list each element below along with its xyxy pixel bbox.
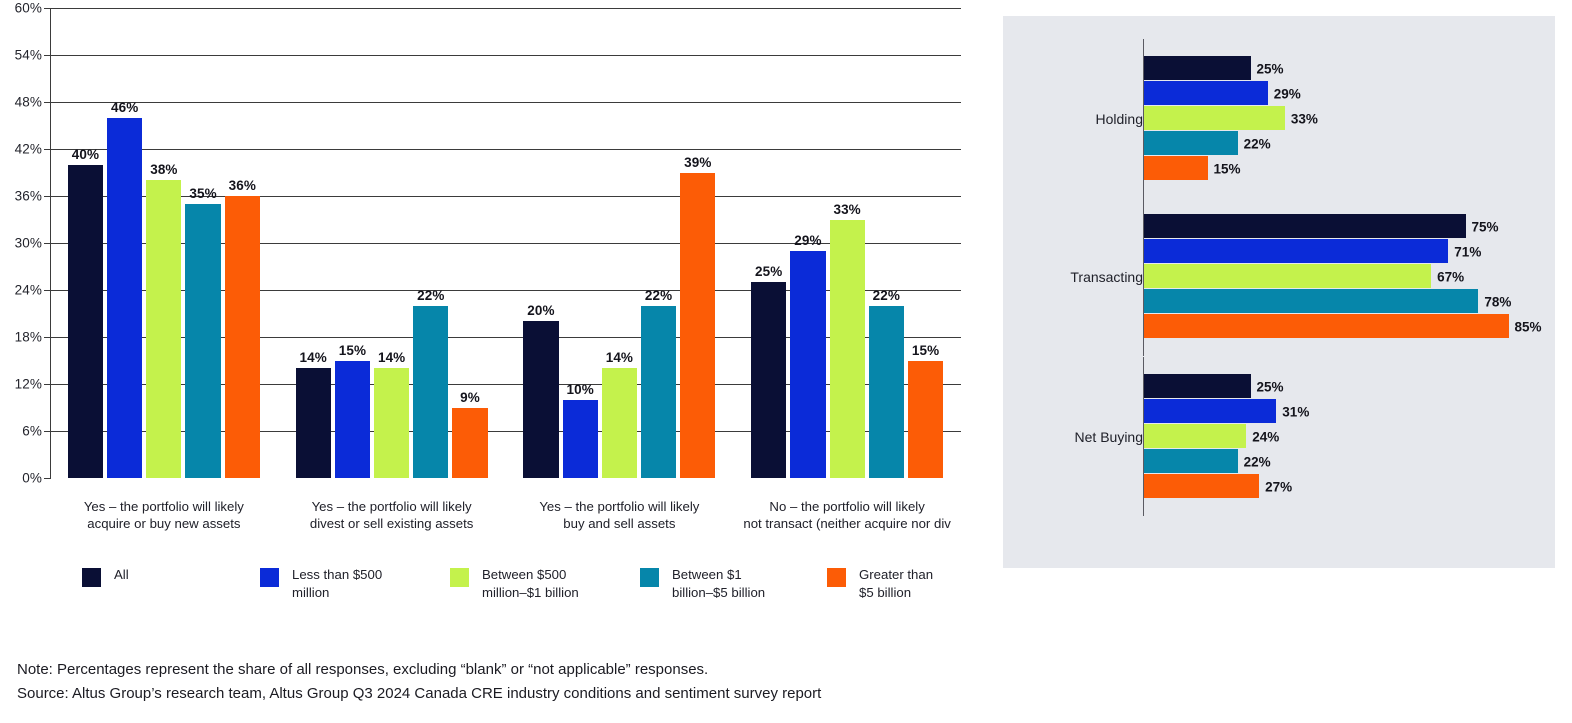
y-axis-tick-label: 12%: [15, 377, 42, 392]
bar-value-label: 38%: [150, 162, 177, 177]
horizontal-bar-group-label: Holding: [1096, 111, 1143, 127]
bar-value-label: 22%: [873, 288, 900, 303]
legend-swatch-less-than-500-million: [260, 568, 279, 587]
horizontal-bar-group: Holding25%29%33%22%15%: [1003, 56, 1555, 181]
horizontal-bar[interactable]: [1143, 81, 1268, 105]
bar-value-label: 14%: [378, 350, 405, 365]
bar-group: 14%15%14%22%9%: [278, 8, 506, 478]
bar[interactable]: [296, 368, 331, 478]
y-axis-tick-label: 60%: [15, 1, 42, 16]
horizontal-bar-value-label: 71%: [1454, 244, 1481, 259]
horizontal-bar-row[interactable]: 67%: [1143, 264, 1555, 289]
bar[interactable]: [602, 368, 637, 478]
y-axis-tick-mark: [44, 102, 50, 103]
footnotes: Note: Percentages represent the share of…: [17, 658, 997, 706]
bar-value-label: 14%: [606, 350, 633, 365]
horizontal-bar-group: Net Buying25%31%24%22%27%: [1003, 374, 1555, 499]
category-label-line: No – the portfolio will likely: [735, 498, 959, 515]
horizontal-bar-value-label: 15%: [1214, 161, 1241, 176]
y-axis-tick-label: 6%: [22, 424, 42, 439]
bar-value-label: 35%: [189, 186, 216, 201]
bar-column[interactable]: 9%: [452, 8, 487, 478]
horizontal-bar-row[interactable]: 22%: [1143, 131, 1555, 156]
bar[interactable]: [185, 204, 220, 478]
horizontal-bar-value-label: 31%: [1282, 404, 1309, 419]
bar-value-label: 14%: [300, 350, 327, 365]
horizontal-bar-row[interactable]: 31%: [1143, 399, 1555, 424]
y-axis-tick-mark: [44, 337, 50, 338]
horizontal-bar-group: Transacting75%71%67%78%85%: [1003, 214, 1555, 339]
y-axis-tick-label: 54%: [15, 48, 42, 63]
legend-item[interactable]: All: [82, 566, 129, 587]
horizontal-bar[interactable]: [1143, 474, 1259, 498]
bar-value-label: 29%: [794, 233, 821, 248]
bar-column[interactable]: 35%: [185, 8, 220, 478]
horizontal-bars: 25%31%24%22%27%: [1143, 374, 1555, 499]
bar-groups: 40%46%38%35%36%14%15%14%22%9%20%10%14%22…: [50, 8, 961, 478]
legend-item-label: Between $500 million–$1 billion: [482, 566, 579, 602]
horizontal-bar-row[interactable]: 85%: [1143, 314, 1555, 339]
x-axis-category-label: No – the portfolio will likelynot transa…: [733, 498, 961, 532]
bar[interactable]: [68, 165, 103, 478]
bar-column[interactable]: 40%: [68, 8, 103, 478]
horizontal-bar[interactable]: [1143, 289, 1478, 313]
bar-group-bars: 25%29%33%22%15%: [751, 8, 943, 478]
bar[interactable]: [869, 306, 904, 478]
bar-value-label: 39%: [684, 155, 711, 170]
x-axis-category-label: Yes – the portfolio will likelybuy and s…: [506, 498, 734, 532]
legend-item-label: Less than $500 million: [292, 566, 382, 602]
bar[interactable]: [335, 361, 370, 479]
footnote-note: Note: Percentages represent the share of…: [17, 658, 997, 682]
legend-swatch-between-1-billion-5-billion: [640, 568, 659, 587]
category-label-line: Yes – the portfolio will likely: [280, 498, 504, 515]
horizontal-bar-row[interactable]: 75%: [1143, 214, 1555, 239]
horizontal-bar-value-label: 78%: [1484, 294, 1511, 309]
y-axis-tick-mark: [44, 196, 50, 197]
horizontal-bar-value-label: 25%: [1257, 61, 1284, 76]
bar-column[interactable]: 10%: [563, 8, 598, 478]
bar-value-label: 25%: [755, 264, 782, 279]
y-axis-tick-label: 48%: [15, 95, 42, 110]
category-label-line: divest or sell existing assets: [280, 515, 504, 532]
horizontal-bar-row[interactable]: 25%: [1143, 56, 1555, 81]
y-axis-tick-label: 24%: [15, 283, 42, 298]
y-axis-tick-label: 36%: [15, 189, 42, 204]
x-axis-category-label: Yes – the portfolio will likelydivest or…: [278, 498, 506, 532]
bar-value-label: 22%: [645, 288, 672, 303]
category-label-line: not transact (neither acquire nor div: [735, 515, 959, 532]
grouped-column-chart: 0%6%12%18%24%30%36%42%48%54%60% 40%46%38…: [0, 0, 1000, 620]
bar-column[interactable]: 14%: [602, 8, 637, 478]
horizontal-axis-line: [1143, 197, 1144, 356]
bar[interactable]: [146, 180, 181, 478]
horizontal-bar-row[interactable]: 24%: [1143, 424, 1555, 449]
y-axis-tick-mark: [44, 243, 50, 244]
horizontal-bar-value-label: 22%: [1244, 136, 1271, 151]
horizontal-bars: 25%29%33%22%15%: [1143, 56, 1555, 181]
bar-column[interactable]: 22%: [869, 8, 904, 478]
horizontal-bar-value-label: 27%: [1265, 479, 1292, 494]
horizontal-bar-row[interactable]: 33%: [1143, 106, 1555, 131]
horizontal-bar-groups: Holding25%29%33%22%15%Transacting75%71%6…: [1003, 16, 1555, 568]
bar-column[interactable]: 39%: [680, 8, 715, 478]
horizontal-bar-value-label: 24%: [1252, 429, 1279, 444]
bar[interactable]: [641, 306, 676, 478]
y-axis-tick-mark: [44, 431, 50, 432]
y-axis-tick-mark: [44, 290, 50, 291]
bar[interactable]: [790, 251, 825, 478]
bar[interactable]: [413, 306, 448, 478]
y-axis-tick-mark: [44, 478, 50, 479]
x-axis-category-labels: Yes – the portfolio will likelyacquire o…: [50, 498, 961, 532]
bar[interactable]: [830, 220, 865, 479]
bar[interactable]: [908, 361, 943, 479]
bar[interactable]: [563, 400, 598, 478]
legend-item[interactable]: Between $1 billion–$5 billion: [640, 566, 765, 602]
bar-group-bars: 14%15%14%22%9%: [296, 8, 488, 478]
horizontal-bar-value-label: 85%: [1515, 319, 1542, 334]
category-label-line: Yes – the portfolio will likely: [508, 498, 732, 515]
bar-value-label: 15%: [339, 343, 366, 358]
bar-value-label: 46%: [111, 100, 138, 115]
horizontal-bar-value-label: 75%: [1472, 219, 1499, 234]
y-axis-tick-label: 30%: [15, 236, 42, 251]
bar[interactable]: [523, 321, 558, 478]
bar-group: 40%46%38%35%36%: [50, 8, 278, 478]
category-label-line: acquire or buy new assets: [52, 515, 276, 532]
category-label-line: Yes – the portfolio will likely: [52, 498, 276, 515]
horizontal-bar[interactable]: [1143, 156, 1208, 180]
bar-column[interactable]: 15%: [908, 8, 943, 478]
horizontal-bar[interactable]: [1143, 56, 1251, 80]
bar-group: 20%10%14%22%39%: [506, 8, 734, 478]
bar[interactable]: [374, 368, 409, 478]
y-axis-tick-labels: 0%6%12%18%24%30%36%42%48%54%60%: [0, 0, 46, 486]
y-axis-tick-label: 0%: [22, 471, 42, 486]
horizontal-bar-group-label: Transacting: [1070, 269, 1143, 285]
bar[interactable]: [452, 408, 487, 479]
bar-value-label: 10%: [567, 382, 594, 397]
bar-group-bars: 20%10%14%22%39%: [523, 8, 715, 478]
bar-column[interactable]: 20%: [523, 8, 558, 478]
horizontal-bar[interactable]: [1143, 239, 1448, 263]
footnote-source: Source: Altus Group’s research team, Alt…: [17, 682, 997, 706]
horizontal-bar-value-label: 25%: [1257, 379, 1284, 394]
horizontal-bar[interactable]: [1143, 449, 1238, 473]
bar-group-bars: 40%46%38%35%36%: [68, 8, 260, 478]
y-axis-tick-mark: [44, 8, 50, 9]
horizontal-axis-line: [1143, 39, 1144, 198]
y-axis-tick-mark: [44, 149, 50, 150]
horizontal-bar-row[interactable]: 71%: [1143, 239, 1555, 264]
horizontal-bar-row[interactable]: 25%: [1143, 374, 1555, 399]
horizontal-bar[interactable]: [1143, 106, 1285, 130]
horizontal-bar[interactable]: [1143, 374, 1251, 398]
legend-item[interactable]: Greater than $5 billion: [827, 566, 933, 602]
legend-item-label: Between $1 billion–$5 billion: [672, 566, 765, 602]
legend-swatch-between-500-million-1-billion: [450, 568, 469, 587]
horizontal-bar[interactable]: [1143, 214, 1466, 238]
legend-item-label: Greater than $5 billion: [859, 566, 933, 602]
bar-value-label: 22%: [417, 288, 444, 303]
bar-column[interactable]: 22%: [641, 8, 676, 478]
horizontal-bar-row[interactable]: 15%: [1143, 156, 1555, 181]
bar-column[interactable]: 33%: [830, 8, 865, 478]
bar-value-label: 40%: [72, 147, 99, 162]
bar-value-label: 15%: [912, 343, 939, 358]
bar-value-label: 36%: [229, 178, 256, 193]
bar-column[interactable]: 36%: [225, 8, 260, 478]
horizontal-bar[interactable]: [1143, 264, 1431, 288]
bar-column[interactable]: 14%: [296, 8, 331, 478]
bar-column[interactable]: 22%: [413, 8, 448, 478]
horizontal-bar-value-label: 29%: [1274, 86, 1301, 101]
bar-column[interactable]: 46%: [107, 8, 142, 478]
bar[interactable]: [751, 282, 786, 478]
horizontal-bar[interactable]: [1143, 131, 1238, 155]
legend-swatch-all: [82, 568, 101, 587]
horizontal-bar-row[interactable]: 78%: [1143, 289, 1555, 314]
bar[interactable]: [225, 196, 260, 478]
y-axis-tick-mark: [44, 55, 50, 56]
horizontal-bar[interactable]: [1143, 314, 1509, 338]
horizontal-bar-group-label: Net Buying: [1075, 429, 1143, 445]
bar-value-label: 33%: [833, 202, 860, 217]
bar-column[interactable]: 25%: [751, 8, 786, 478]
horizontal-bar-row[interactable]: 29%: [1143, 81, 1555, 106]
y-axis-tick-label: 18%: [15, 330, 42, 345]
bar[interactable]: [107, 118, 142, 478]
bar[interactable]: [680, 173, 715, 479]
horizontal-bars: 75%71%67%78%85%: [1143, 214, 1555, 339]
horizontal-bar-row[interactable]: 27%: [1143, 474, 1555, 499]
bar-column[interactable]: 29%: [790, 8, 825, 478]
bar-column[interactable]: 15%: [335, 8, 370, 478]
horizontal-bar[interactable]: [1143, 399, 1276, 423]
bar-column[interactable]: 38%: [146, 8, 181, 478]
x-axis-category-label: Yes – the portfolio will likelyacquire o…: [50, 498, 278, 532]
horizontal-bar-value-label: 67%: [1437, 269, 1464, 284]
horizontal-axis-line: [1143, 357, 1144, 516]
bar-value-label: 20%: [527, 303, 554, 318]
legend-item[interactable]: Between $500 million–$1 billion: [450, 566, 579, 602]
y-axis-tick-label: 42%: [15, 142, 42, 157]
horizontal-bar-chart-panel: Holding25%29%33%22%15%Transacting75%71%6…: [1003, 16, 1555, 568]
bar-value-label: 9%: [460, 390, 480, 405]
horizontal-bar-row[interactable]: 22%: [1143, 449, 1555, 474]
legend-item[interactable]: Less than $500 million: [260, 566, 382, 602]
y-axis-tick-mark: [44, 384, 50, 385]
bar-column[interactable]: 14%: [374, 8, 409, 478]
category-label-line: buy and sell assets: [508, 515, 732, 532]
legend-item-label: All: [114, 566, 129, 584]
horizontal-bar-value-label: 22%: [1244, 454, 1271, 469]
horizontal-bar-value-label: 33%: [1291, 111, 1318, 126]
legend-swatch-greater-than-5-billion: [827, 568, 846, 587]
horizontal-bar[interactable]: [1143, 424, 1246, 448]
bar-group: 25%29%33%22%15%: [733, 8, 961, 478]
